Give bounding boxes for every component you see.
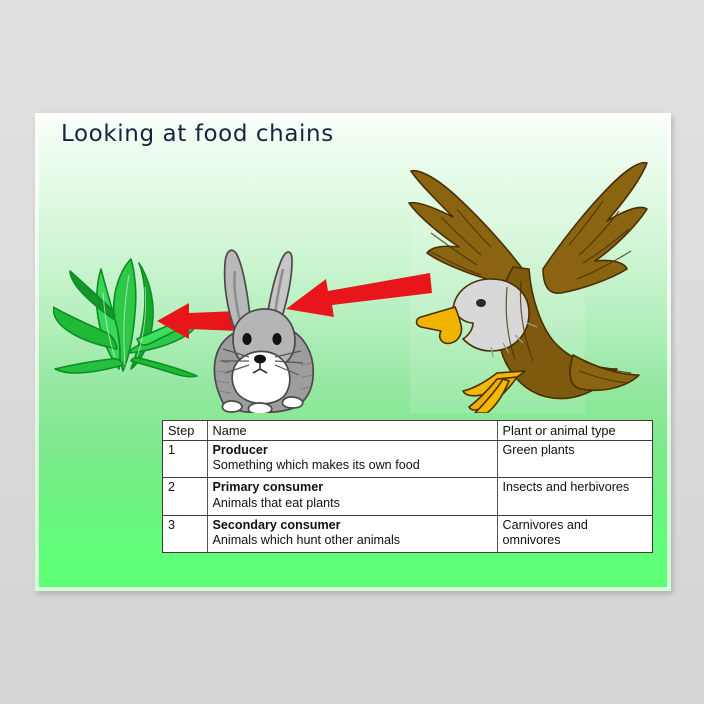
column-header-step: Step [163, 421, 207, 440]
cell-step: 2 [163, 478, 207, 516]
cell-name: Producer Something which makes its own f… [207, 440, 497, 478]
cell-name-title: Secondary consumer [213, 518, 341, 532]
cell-step: 1 [163, 440, 207, 478]
cell-name-description: Animals which hunt other animals [213, 533, 492, 549]
cell-step: 3 [163, 515, 207, 552]
cell-type: Green plants [497, 440, 652, 478]
page-title: Looking at food chains [61, 121, 334, 147]
column-header-type: Plant or animal type [497, 421, 652, 440]
food-chain-table: Step Name Plant or animal type 1 Produce… [162, 420, 653, 553]
rabbit-icon [203, 243, 328, 413]
cell-name-description: Animals that eat plants [213, 496, 492, 512]
table-row: 3 Secondary consumer Animals which hunt … [163, 515, 652, 552]
cell-name-title: Primary consumer [213, 480, 324, 494]
cell-name-title: Producer [213, 443, 268, 457]
cell-type: Carnivores and omnivores [497, 515, 652, 552]
food-chain-diagram [35, 153, 671, 413]
column-header-name: Name [207, 421, 497, 440]
table-header-row: Step Name Plant or animal type [163, 421, 652, 440]
cell-type: Insects and herbivores [497, 478, 652, 516]
food-chain-poster: Looking at food chains [35, 113, 671, 591]
bald-eagle-icon [397, 155, 652, 413]
table-row: 1 Producer Something which makes its own… [163, 440, 652, 478]
table-row: 2 Primary consumer Animals that eat plan… [163, 478, 652, 516]
cell-name-description: Something which makes its own food [213, 458, 492, 474]
cell-name: Primary consumer Animals that eat plants [207, 478, 497, 516]
cell-name: Secondary consumer Animals which hunt ot… [207, 515, 497, 552]
